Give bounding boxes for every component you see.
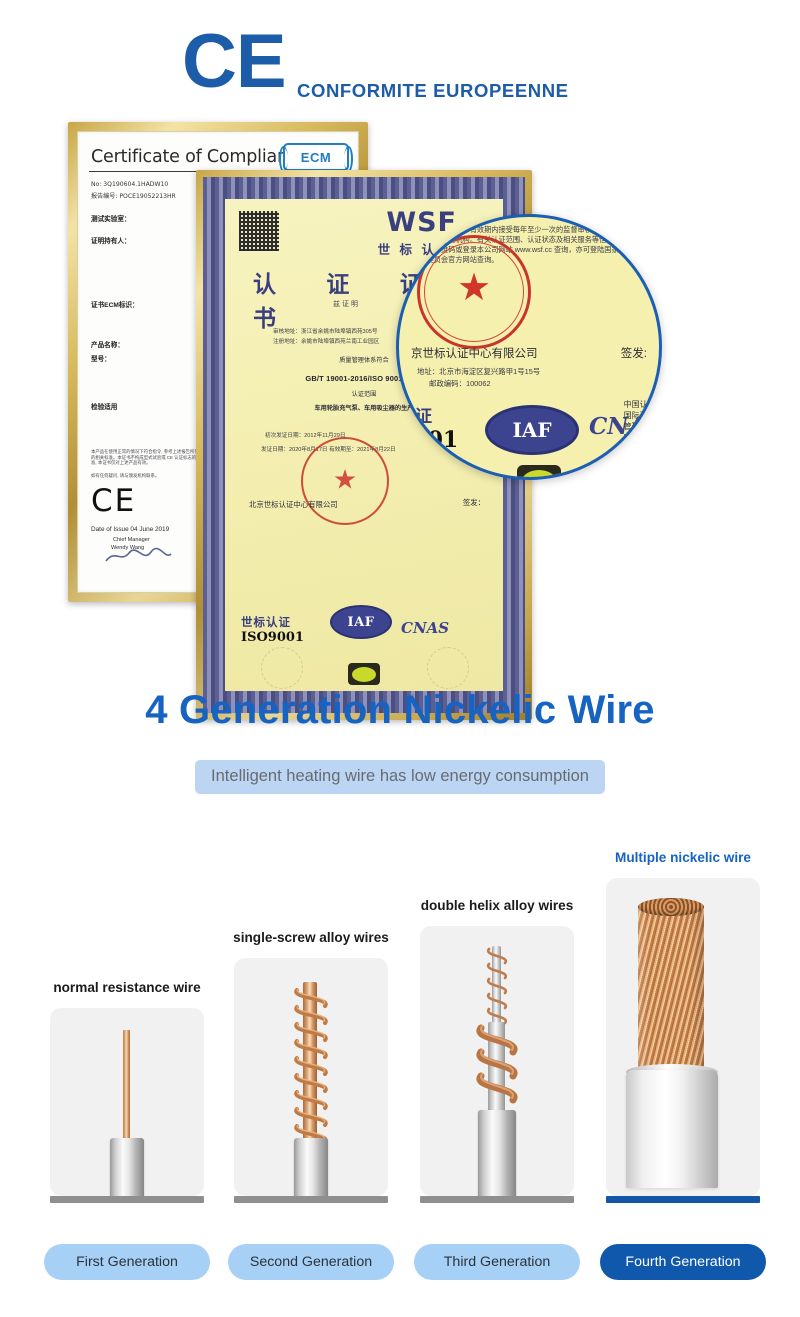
generation-caption-2: single-screw alloy wires [220,930,402,945]
magnified-address-1: 地址：北京市海淀区复兴路甲1号15号 [417,367,540,377]
magnified-ghost-seal-right-icon [577,463,633,480]
certificate-number: No: 3Q190604.1HADW10 [91,181,168,188]
wsf-iso-en: ISO9001 [241,630,304,645]
ce-header: CE CONFORMITE EUROPEENNE [0,0,800,118]
single-helix-coil-2 [286,978,336,1148]
generation-pill-2[interactable]: Second Generation [228,1244,394,1280]
issuing-company: 北京世标认证中心有限公司 [249,499,338,510]
field-model: 型号： [91,353,111,363]
signer-role: Chief Manager [113,537,150,543]
magnified-iso-block: 认证 9001 [397,402,458,453]
cnas-en-1: MANAGEMENT [624,432,662,443]
generation-base-1 [50,1196,204,1203]
stranded-copper-face-4 [638,898,704,916]
generation-pill-4[interactable]: Fourth Generation [600,1244,766,1280]
cert-heading-note: 兹证明 [333,299,360,309]
generation-pill-label-3: Third Generation [444,1254,550,1270]
field-scope: 检验适用 [91,401,117,411]
page-subtitle: Intelligent heating wire has low energy … [195,760,605,794]
generation-base-3 [420,1196,574,1203]
field-ecm-id: 证书ECM标识： [91,299,139,309]
white-insulation-jacket-4 [626,1070,718,1188]
generation-pill-label-4: Fourth Generation [625,1254,740,1270]
date-of-issue: Date of Issue 04 June 2019 [91,526,169,533]
generation-caption-3: double helix alloy wires [406,898,588,913]
generation-comparison: normal resistance wire First Generation … [0,840,800,1310]
metal-sleeve-2 [294,1138,328,1196]
cnas-cn-1: 中国认可 [624,399,662,410]
generation-pill-label-2: Second Generation [250,1254,372,1270]
red-seal-icon: ★ [301,437,389,525]
magnified-address-2: 邮政编码：100062 [429,379,491,389]
cnas-cn-3: 管理体系 [624,421,662,432]
certificate-title: Certificate of Compliance [91,147,308,167]
magnified-red-seal-icon: ★ [417,235,531,349]
field-holder: 证明持有人： [91,235,131,245]
fineprint-2: 如有任何疑问, 请与颁发机构联系。 [91,473,203,479]
magnified-sign-label: 签发: [621,345,647,361]
magnified-green-label-icon [517,465,561,480]
report-number: 报告编号: POCE19052213HR [91,191,176,200]
ce-logo: CE [182,24,286,100]
generation-base-4 [606,1196,760,1203]
magnifier-circle: 凡获证组织应在证书有效期内接受每年至少一次的监督审核，并将监督审核合格结果报送认… [396,214,662,480]
generation-pill-3[interactable]: Third Generation [414,1244,580,1280]
magnified-iso-cn: 认证 [397,402,458,427]
ghost-seal-right-icon [427,647,469,689]
ecm-label: ECM [301,150,331,165]
copper-core-1 [123,1030,130,1142]
iaf-label: IAF [348,615,375,630]
thick-helix-coil-3 [468,1018,526,1108]
wsf-iso9001-block: 世标认证 ISO9001 [241,614,304,645]
generation-card-1 [50,1008,204,1196]
generation-caption-1: normal resistance wire [36,980,218,995]
certificate-images: Certificate of Compliance ECM No: 3Q1906… [0,118,800,628]
generation-pill-1[interactable]: First Generation [44,1244,210,1280]
field-product: 产品名称： [91,339,124,349]
generation-card-2 [234,958,388,1196]
magnified-cnas-text: 中国认可 国际互认 管理体系 MANAGEMENT CNAS C038 [624,399,662,454]
metal-sleeve-1 [110,1138,144,1196]
magnified-iso-en: 9001 [397,427,458,453]
generation-pill-label-1: First Generation [76,1254,178,1270]
page-title: 4 Generation Nickelic Wire [0,688,800,733]
field-lab: 测试实验室： [91,213,131,223]
metal-sleeve-3 [478,1110,516,1196]
ecm-logo: ECM [283,143,349,171]
generation-card-3 [420,926,574,1196]
magnified-iaf-label: IAF [512,418,551,442]
cnas-logo: CNAS [401,619,449,637]
generation-caption-4: Multiple nickelic wire [592,850,774,865]
signature-icon [103,547,173,565]
qr-code-icon [239,211,279,251]
cnas-en-2: CNAS C038 [624,443,662,454]
ghost-seal-left-icon [261,647,303,689]
cnas-cn-2: 国际互认 [624,410,662,421]
registered-address: 注册地址：余姚市陆埠镇西苑兰南工业园区 [273,337,379,345]
generation-card-4 [606,878,760,1196]
green-label-icon [348,663,380,685]
generation-base-2 [234,1196,388,1203]
iaf-logo: IAF [330,605,392,639]
ce-compliance-mark: CE [91,483,136,519]
audit-address: 审核地址：浙江省余姚市陆埠镇西苑305号 [273,327,377,335]
wsf-iso-cn: 世标认证 [241,614,304,630]
subtitle-container: Intelligent heating wire has low energy … [0,760,800,794]
sign-label: 签发： [463,497,485,508]
ce-subtitle: CONFORMITE EUROPEENNE [297,80,569,102]
magnified-iaf-logo: IAF [485,405,579,455]
magnified-company: 京世标认证中心有限公司 [411,345,538,361]
fineprint: 本产品在使用正常的情况下符合指令, 参考上述报告所列的相关标准。本证书不构成型式… [91,449,203,466]
